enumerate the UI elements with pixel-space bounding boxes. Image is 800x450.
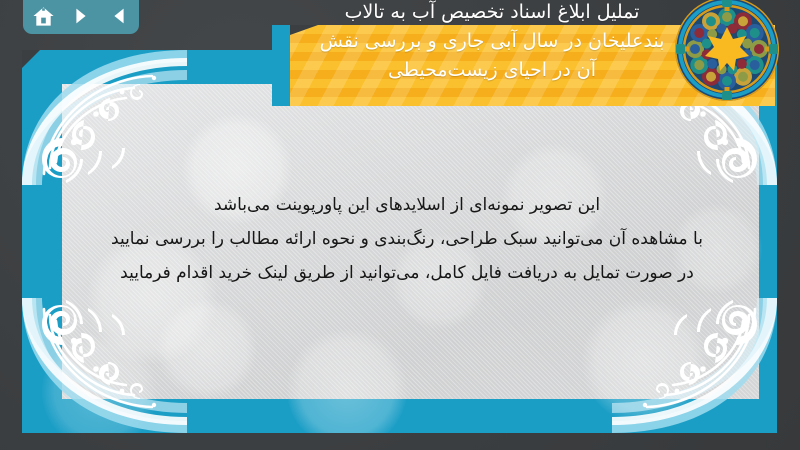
prev-arrow-icon[interactable] xyxy=(106,3,132,29)
slide-body-text: این تصویر نمونه‌ای از اسلایدهای این پاور… xyxy=(82,188,732,290)
slide-title-banner xyxy=(272,25,775,106)
next-arrow-icon[interactable] xyxy=(68,3,94,29)
bokeh-circle xyxy=(42,334,157,433)
slide-frame: این تصویر نمونه‌ای از اسلایدهای این پاور… xyxy=(22,50,777,433)
slide-viewer: این تصویر نمونه‌ای از اسلایدهای این پاور… xyxy=(0,0,800,450)
bokeh-circle xyxy=(287,329,407,433)
body-line: با مشاهده آن می‌توانید سبک طراحی، رنگ‌بن… xyxy=(82,222,732,256)
bokeh-circle xyxy=(157,299,257,399)
banner-teal-edge xyxy=(272,25,290,106)
body-line: در صورت تمایل به دریافت فایل کامل، می‌تو… xyxy=(82,256,732,290)
slide-navigation-bar xyxy=(23,0,139,34)
home-icon[interactable] xyxy=(30,3,56,29)
banner-gold-field xyxy=(290,25,775,106)
body-line: این تصویر نمونه‌ای از اسلایدهای این پاور… xyxy=(82,188,732,222)
bokeh-circle xyxy=(582,299,707,424)
